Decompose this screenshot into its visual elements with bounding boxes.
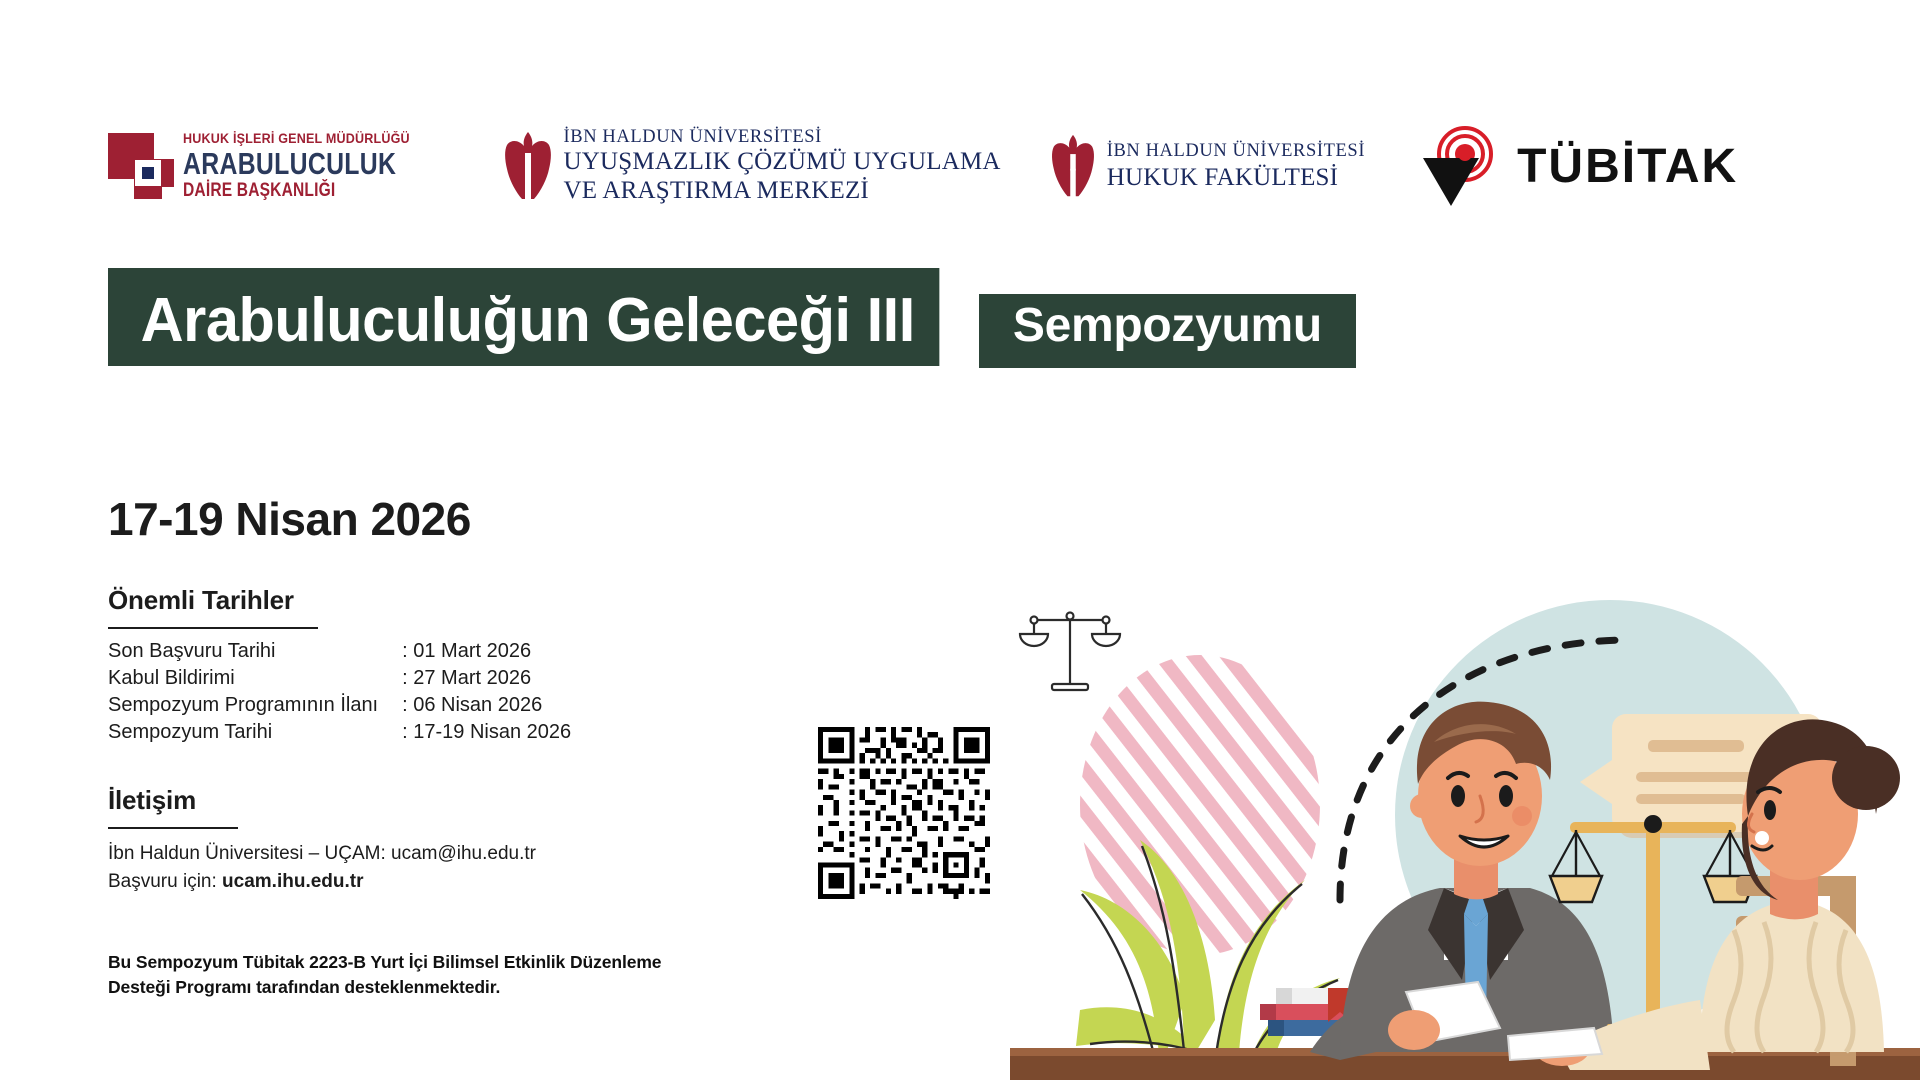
hand [1388, 1010, 1440, 1050]
table-row: Son Başvuru Tarihi : 01 Mart 2026 [108, 640, 571, 667]
mediation-scene-illustration [1010, 600, 1920, 1080]
divider [108, 827, 238, 829]
page-title-line2: Sempozyumu [979, 294, 1356, 368]
balance-scale-outline-icon [1020, 613, 1120, 691]
table-row: Sempozyum Programının İlanı : 06 Nisan 2… [108, 694, 571, 721]
title-block: Arabuluculuğun Geleceği III Sempozyumu [108, 268, 1356, 368]
ucam-line3: VE ARAŞTIRMA MERKEZİ [564, 178, 1001, 204]
funding-note-line2: Desteği Programı tarafından desteklenmek… [108, 975, 661, 1000]
tubitak-mark-icon [1417, 124, 1501, 208]
date-label: Kabul Bildirimi [108, 667, 402, 694]
arabuluculuk-line3: DAİRE BAŞKANLIĞI [183, 181, 402, 200]
contact-heading: İletişim [108, 785, 536, 816]
funding-note-line1: Bu Sempozyum Tübitak 2223-B Yurt İçi Bil… [108, 950, 661, 975]
contact-section: İletişim İbn Haldun Üniversitesi – UÇAM:… [108, 785, 536, 895]
important-dates-section: Önemli Tarihler Son Başvuru Tarihi : 01 … [108, 585, 571, 748]
event-date: 17-19 Nisan 2026 [108, 492, 471, 546]
contact-email-line: İbn Haldun Üniversitesi – UÇAM: ucam@ihu… [108, 840, 536, 868]
poster-canvas: HUKUK İŞLERİ GENEL MÜDÜRLÜĞÜ ARABULUCULU… [0, 0, 1920, 1080]
tubitak-wordmark: TÜBİTAK [1517, 139, 1738, 194]
contact-website-url[interactable]: ucam.ihu.edu.tr [222, 871, 363, 892]
funding-note: Bu Sempozyum Tübitak 2223-B Yurt İçi Bil… [108, 950, 661, 1000]
date-label: Sempozyum Programının İlanı [108, 694, 402, 721]
important-dates-heading: Önemli Tarihler [108, 585, 571, 616]
logo-hukuk-fakultesi: İBN HALDUN ÜNİVERSİTESİ HUKUK FAKÜLTESİ [1051, 132, 1365, 200]
date-label: Sempozyum Tarihi [108, 721, 402, 748]
hukuk-line2: HUKUK FAKÜLTESİ [1107, 164, 1365, 192]
important-dates-table: Son Başvuru Tarihi : 01 Mart 2026 Kabul … [108, 640, 571, 748]
logo-bar: HUKUK İŞLERİ GENEL MÜDÜRLÜĞÜ ARABULUCULU… [108, 118, 1738, 214]
date-value: : 27 Mart 2026 [402, 667, 571, 694]
arabuluculuk-line1: HUKUK İŞLERİ GENEL MÜDÜRLÜĞÜ [183, 132, 431, 146]
logo-tubitak: TÜBİTAK [1417, 124, 1738, 208]
desk [1010, 1052, 1920, 1080]
tulip-icon [1051, 132, 1095, 200]
date-value: : 17-19 Nisan 2026 [402, 721, 571, 748]
table-row: Kabul Bildirimi : 27 Mart 2026 [108, 667, 571, 694]
logo-ucam: İBN HALDUN ÜNİVERSİTESİ UYUŞMAZLIK ÇÖZÜM… [504, 128, 1001, 204]
divider [108, 627, 318, 629]
table-row: Sempozyum Tarihi : 17-19 Nisan 2026 [108, 721, 571, 748]
arabuluculuk-line2: ARABULUCULUK [183, 148, 396, 179]
date-value: : 01 Mart 2026 [402, 640, 571, 667]
date-value: : 06 Nisan 2026 [402, 694, 571, 721]
ucam-line1: İBN HALDUN ÜNİVERSİTESİ [564, 128, 1001, 147]
hair-bun [1832, 746, 1900, 810]
logo-arabuluculuk: HUKUK İŞLERİ GENEL MÜDÜRLÜĞÜ ARABULUCULU… [108, 132, 450, 201]
contact-website-line: Başvuru için: ucam.ihu.edu.tr [108, 868, 536, 896]
qr-code[interactable] [818, 727, 990, 899]
ucam-line2: UYUŞMAZLIK ÇÖZÜMÜ UYGULAMA [564, 149, 1001, 175]
tulip-icon [504, 129, 552, 203]
date-label: Son Başvuru Tarihi [108, 640, 402, 667]
arabuluculuk-mark-icon [108, 133, 174, 199]
contact-website-prefix: Başvuru için: [108, 871, 222, 892]
page-title-line1: Arabuluculuğun Geleceği III [108, 268, 940, 366]
hukuk-line1: İBN HALDUN ÜNİVERSİTESİ [1107, 141, 1365, 162]
